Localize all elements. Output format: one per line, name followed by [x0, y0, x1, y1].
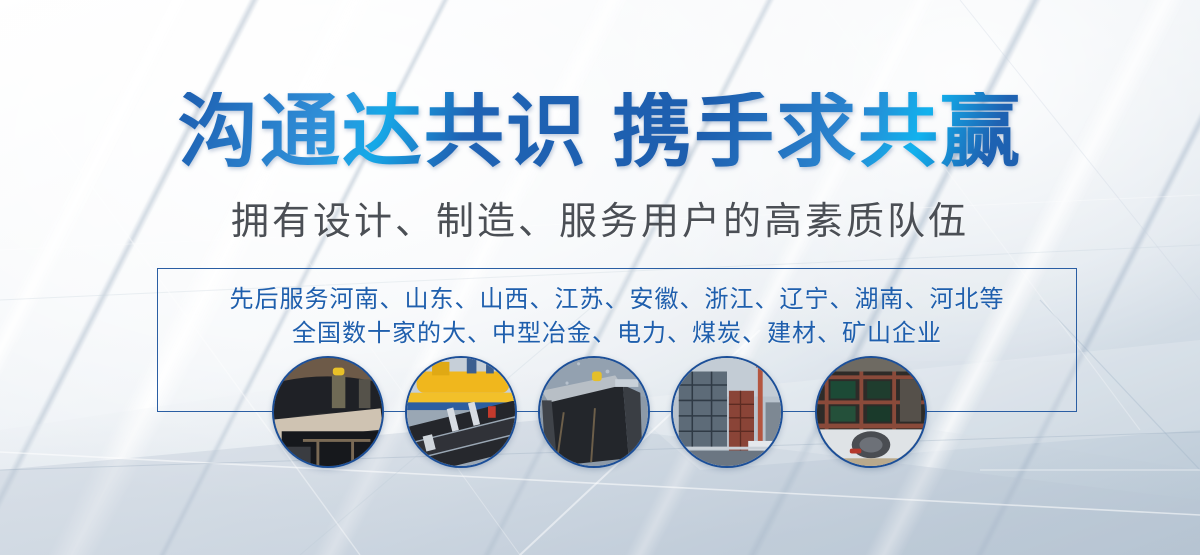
- photo-plant-construction: [673, 358, 781, 466]
- photo-circle-row: [0, 0, 1200, 555]
- photo-workshop-racks: [817, 358, 925, 466]
- photo-steel-hopper: [540, 358, 648, 466]
- photo-circle-tank-lining-workers: [272, 356, 384, 468]
- photo-circle-steel-hopper: [538, 356, 650, 468]
- photo-circle-workshop-racks: [815, 356, 927, 468]
- photo-circle-plant-construction: [671, 356, 783, 468]
- photo-yellow-equipment-pipes: [407, 358, 515, 466]
- promo-banner: 沟通达共识 携手求共赢 拥有设计、制造、服务用户的高素质队伍 先后服务河南、山东…: [0, 0, 1200, 555]
- banner-content: 沟通达共识 携手求共赢 拥有设计、制造、服务用户的高素质队伍 先后服务河南、山东…: [0, 0, 1200, 555]
- photo-tank-lining-workers: [274, 358, 382, 466]
- photo-circle-yellow-equipment-pipes: [405, 356, 517, 468]
